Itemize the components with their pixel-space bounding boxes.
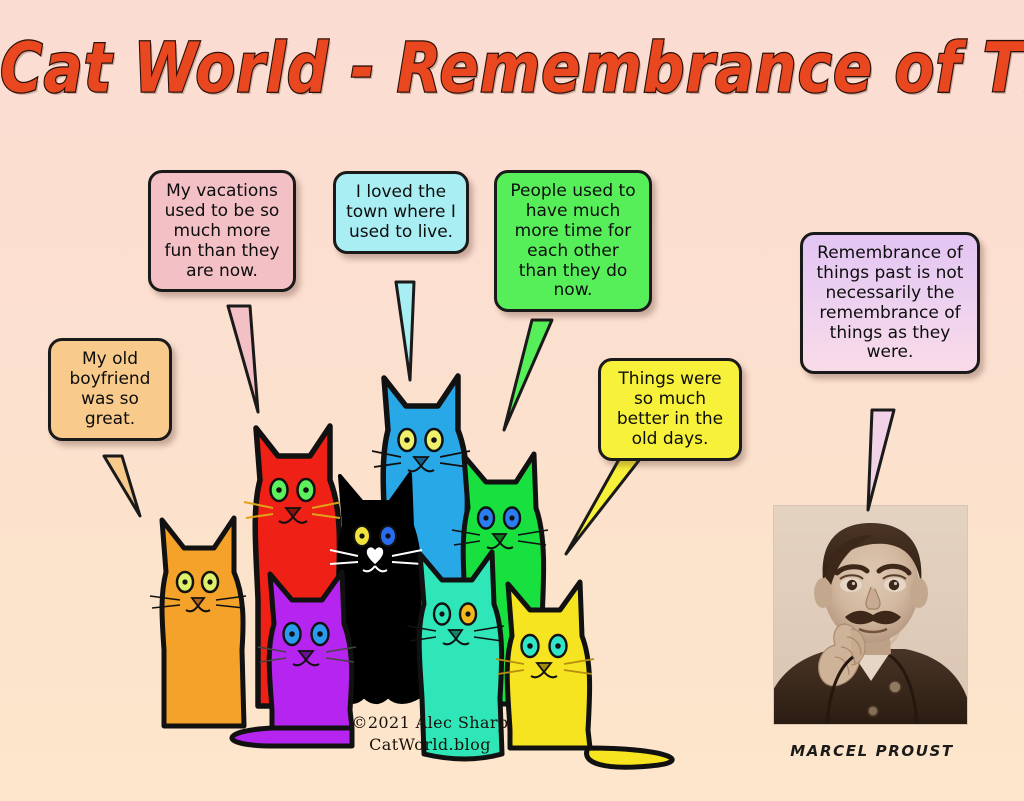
bubble-green-text: People used to have much more time for e… — [507, 182, 639, 301]
bubble-tail-yellow — [560, 452, 650, 562]
page-title: Cat World - Remembrance of Things Past — [0, 28, 1024, 108]
proust-photo-image — [773, 505, 968, 725]
bubble-yellow[interactable]: Things were so much better in the old da… — [598, 358, 742, 461]
bubble-yellow-text: Things were so much better in the old da… — [611, 370, 729, 450]
credit-block: ©2021 Alec Sharp CatWorld.blog — [330, 712, 530, 755]
cartoon-canvas: Cat World - Remembrance of Things Past — [0, 0, 1024, 801]
bubble-lavender-text: Remembrance of things past is not necess… — [813, 244, 967, 363]
bubble-orange-text: My old boyfriend was so great. — [61, 350, 159, 430]
proust-caption: MARCEL PROUST — [742, 742, 1002, 760]
bubble-tail-lavender — [856, 408, 906, 518]
marcel-proust-portrait — [773, 505, 968, 725]
credit-line-2: CatWorld.blog — [330, 734, 530, 756]
bubble-tail-pink — [222, 304, 282, 424]
credit-line-1: ©2021 Alec Sharp — [330, 712, 530, 734]
bubble-lavender[interactable]: Remembrance of things past is not necess… — [800, 232, 980, 374]
bubble-green[interactable]: People used to have much more time for e… — [494, 170, 652, 312]
bubble-tail-orange — [96, 454, 156, 524]
bubble-tail-cyan — [390, 280, 430, 390]
bubble-pink-text: My vacations used to be so much more fun… — [161, 182, 283, 281]
bubble-tail-green — [498, 318, 558, 438]
bubble-cyan-text: I loved the town where I used to live. — [346, 183, 456, 243]
bubble-pink[interactable]: My vacations used to be so much more fun… — [148, 170, 296, 292]
bubble-cyan[interactable]: I loved the town where I used to live. — [333, 171, 469, 254]
bubble-orange[interactable]: My old boyfriend was so great. — [48, 338, 172, 441]
